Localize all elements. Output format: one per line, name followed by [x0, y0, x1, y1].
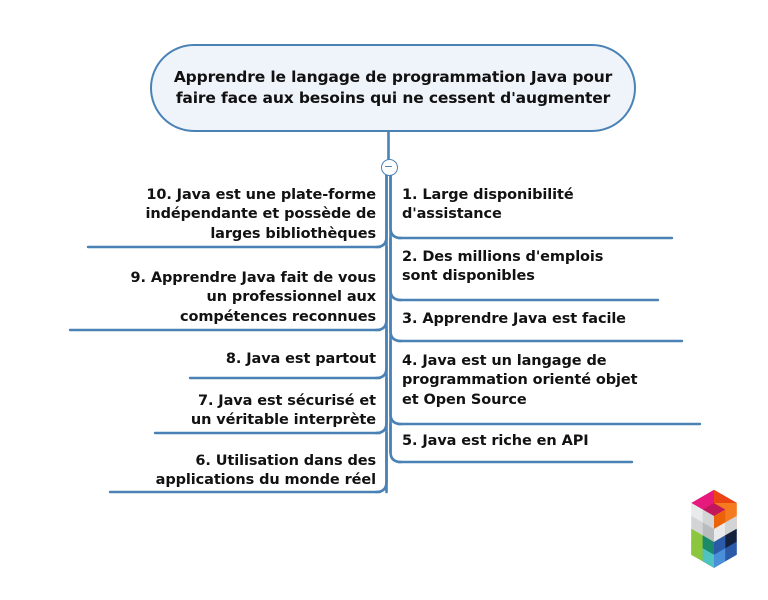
topic-label-10: 10. Java est une plate-forme indépendant… [86, 186, 376, 244]
edge-left-6 [376, 433, 387, 492]
minus-icon [385, 166, 392, 168]
root-node-label: Apprendre le langage de programmation Ja… [152, 67, 634, 110]
edge-right-4 [391, 341, 402, 424]
topic-label-2: 2. Des millions d'emplois sont disponibl… [402, 248, 688, 287]
topic-label-3: 3. Apprendre Java est facile [402, 310, 688, 329]
topic-node-9[interactable]: 9. Apprendre Java fait de vous un profes… [68, 269, 376, 341]
topic-label-5: 5. Java est riche en API [402, 432, 688, 451]
edge-left-9 [376, 247, 387, 330]
topic-node-5[interactable]: 5. Java est riche en API [402, 432, 688, 463]
edge-right-2 [391, 238, 402, 300]
topic-node-4[interactable]: 4. Java est un langage de programmation … [402, 352, 702, 424]
edge-right-1 [391, 175, 402, 238]
topic-label-7: 7. Java est sécurisé et un véritable int… [153, 392, 376, 431]
mindmap-canvas: Apprendre le langage de programmation Ja… [0, 0, 768, 600]
topic-node-3[interactable]: 3. Apprendre Java est facile [402, 310, 688, 341]
edge-right-3 [391, 300, 402, 341]
topic-node-2[interactable]: 2. Des millions d'emplois sont disponibl… [402, 248, 688, 300]
topic-node-8[interactable]: 8. Java est partout [188, 350, 376, 381]
edge-left-10 [376, 175, 387, 247]
topic-label-4: 4. Java est un langage de programmation … [402, 352, 702, 410]
topic-label-1: 1. Large disponibilité d'assistance [402, 186, 688, 225]
topic-label-8: 8. Java est partout [188, 350, 376, 369]
hexagonal-cube-logo [668, 488, 760, 586]
topic-label-9: 9. Apprendre Java fait de vous un profes… [68, 269, 376, 327]
topic-node-10[interactable]: 10. Java est une plate-forme indépendant… [86, 186, 376, 258]
topic-label-6: 6. Utilisation dans des applications du … [108, 452, 376, 491]
edge-right-5 [391, 424, 402, 462]
edge-left-8 [376, 330, 387, 378]
collapse-toggle-button[interactable] [381, 159, 398, 176]
topic-node-1[interactable]: 1. Large disponibilité d'assistance [402, 186, 688, 238]
edge-left-7 [376, 378, 387, 433]
root-node[interactable]: Apprendre le langage de programmation Ja… [150, 44, 636, 132]
topic-node-7[interactable]: 7. Java est sécurisé et un véritable int… [153, 392, 376, 444]
topic-node-6[interactable]: 6. Utilisation dans des applications du … [108, 452, 376, 504]
